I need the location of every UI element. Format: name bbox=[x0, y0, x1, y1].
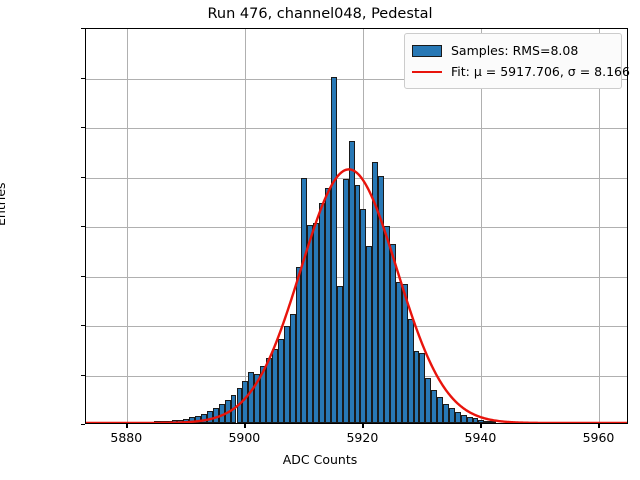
x-tick-mark bbox=[480, 424, 481, 428]
legend-line-icon bbox=[412, 66, 442, 78]
x-tick-label: 5940 bbox=[450, 430, 510, 445]
y-tick-mark bbox=[81, 424, 85, 425]
x-tick-mark bbox=[126, 424, 127, 428]
x-tick-label: 5880 bbox=[96, 430, 156, 445]
x-tick-mark bbox=[244, 424, 245, 428]
x-axis-label: ADC Counts bbox=[0, 452, 640, 467]
chart-legend: Samples: RMS=8.08 Fit: μ = 5917.706, σ =… bbox=[404, 33, 622, 89]
y-axis-label: Entries bbox=[0, 182, 8, 226]
legend-item-samples: Samples: RMS=8.08 bbox=[412, 40, 614, 61]
x-tick-label: 5920 bbox=[332, 430, 392, 445]
x-tick-label: 5900 bbox=[214, 430, 274, 445]
legend-item-fit: Fit: μ = 5917.706, σ = 8.166 bbox=[412, 61, 614, 82]
x-tick-mark bbox=[598, 424, 599, 428]
legend-label-samples: Samples: RMS=8.08 bbox=[451, 43, 578, 58]
legend-label-fit: Fit: μ = 5917.706, σ = 8.166 bbox=[451, 64, 630, 79]
x-tick-mark bbox=[362, 424, 363, 428]
legend-swatch-icon bbox=[412, 45, 442, 57]
x-tick-label: 5960 bbox=[568, 430, 628, 445]
histogram-figure: Run 476, channel048, Pedestal Entries AD… bbox=[0, 0, 640, 480]
chart-title: Run 476, channel048, Pedestal bbox=[0, 6, 640, 22]
